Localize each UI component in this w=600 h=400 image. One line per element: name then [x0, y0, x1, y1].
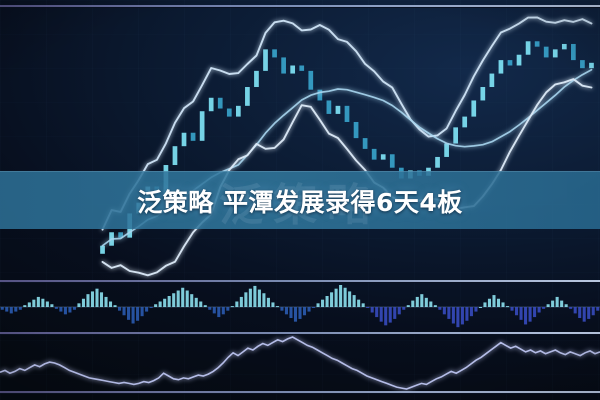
panel-divider-bottom [0, 391, 600, 393]
panel-divider-lower [0, 332, 600, 334]
panel-divider-upper [0, 280, 600, 282]
stock-chart-image: 泛策略 泛策略 平潭发展录得6天4板 [0, 0, 600, 400]
page-title: 泛策略 平潭发展录得6天4板 [137, 183, 463, 219]
title-banner: 泛策略 泛策略 平潭发展录得6天4板 [0, 171, 600, 229]
indicator-line [0, 337, 600, 389]
panel-divider-top [0, 5, 600, 7]
